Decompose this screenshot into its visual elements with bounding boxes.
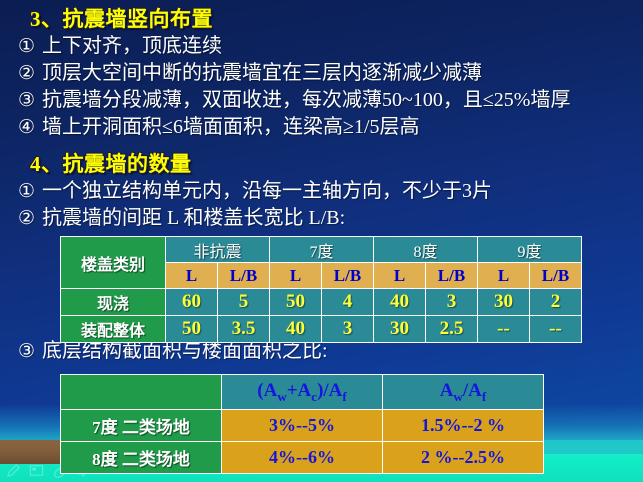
area-ratio-table: (Aw+Ac)/Af Aw/Af 7度 二类场地 3%--5% 1.5%--2 … — [60, 374, 544, 474]
table-row: 8度 二类场地 4%--6% 2 %--2.5% — [61, 442, 544, 474]
table1-cell-1-6: -- — [478, 316, 530, 343]
table1-sub-header-5: L/B — [426, 263, 478, 289]
bullet-text: 抗震墙的间距 L 和楼盖长宽比 L/B: — [42, 207, 345, 229]
table1-cell-1-1: 3.5 — [218, 316, 270, 343]
table1-cell-0-4: 40 — [374, 289, 426, 316]
bullet-text: 底层结构截面积与楼面面积之比: — [42, 340, 328, 362]
section-4-heading: 4、抗震墙的数量 — [30, 151, 643, 177]
formula-sub-w: w — [454, 388, 463, 403]
formula-sub-f: f — [482, 388, 486, 403]
table2-cell-0-0: 3%--5% — [222, 410, 383, 442]
table2-header-aw-over-af: Aw/Af — [383, 375, 544, 410]
table1-sub-header-1: L/B — [218, 263, 270, 289]
bullet-text: 上下对齐，顶底连续 — [42, 35, 222, 57]
formula-sub-w: w — [277, 388, 286, 403]
section-4-item-2: ②抗震墙的间距 L 和楼盖长宽比 L/B: — [18, 205, 643, 232]
table1-sub-header-0: L — [166, 263, 218, 289]
table1-row-0-label: 现浇 — [61, 289, 166, 316]
section-3-item-3: ③抗震墙分段减薄，双面收进，每次减薄50~100，且≤25%墙厚 — [18, 87, 643, 114]
table-row: 现浇 60 5 50 4 40 3 30 2 — [61, 289, 582, 316]
bullet-marker: ② — [18, 205, 42, 232]
formula-sub-f: f — [342, 388, 346, 403]
formula-mid: /A — [463, 380, 482, 401]
section-4-item-1: ①一个独立结构单元内，沿每一主轴方向，不少于3片 — [18, 178, 643, 205]
table1-cell-0-1: 5 — [218, 289, 270, 316]
table1-group-header-3: 9度 — [478, 237, 582, 263]
section-3-item-2: ②顶层大空间中断的抗震墙宜在三层内逐渐减少减薄 — [18, 60, 643, 87]
presentation-slide: 3、抗震墙竖向布置 ①上下对齐，顶底连续 ②顶层大空间中断的抗震墙宜在三层内逐渐… — [0, 0, 643, 482]
table-row: 7度 二类场地 3%--5% 1.5%--2 % — [61, 410, 544, 442]
bullet-marker: ① — [18, 178, 42, 205]
bullet-marker: ② — [18, 60, 42, 87]
table1-sub-header-7: L/B — [530, 263, 582, 289]
table2-corner-label — [61, 375, 222, 410]
table1-group-header-0: 非抗震 — [166, 237, 270, 263]
table1-row-1-label: 装配整体 — [61, 316, 166, 343]
table1-corner-label: 楼盖类别 — [61, 237, 166, 289]
table2-cell-1-0: 4%--6% — [222, 442, 383, 474]
table1-sub-header-4: L — [374, 263, 426, 289]
floor-slab-spacing-table-wrapper: 楼盖类别 非抗震 7度 8度 9度 L L/B L L/B L L/B L L/… — [60, 236, 582, 343]
bullet-text: 墙上开洞面积≤6墙面面积，连梁高≥1/5层高 — [42, 116, 420, 138]
formula-mid: +A — [287, 380, 312, 401]
floor-slab-spacing-table: 楼盖类别 非抗震 7度 8度 9度 L L/B L L/B L L/B L L/… — [60, 236, 582, 343]
table1-cell-0-5: 3 — [426, 289, 478, 316]
table1-cell-0-3: 4 — [322, 289, 374, 316]
area-ratio-table-wrapper: (Aw+Ac)/Af Aw/Af 7度 二类场地 3%--5% 1.5%--2 … — [60, 374, 544, 474]
table2-cell-0-1: 1.5%--2 % — [383, 410, 544, 442]
table1-group-header-2: 8度 — [374, 237, 478, 263]
table1-cell-0-0: 60 — [166, 289, 218, 316]
pen-icon[interactable] — [6, 463, 21, 478]
table2-row-0-label: 7度 二类场地 — [61, 410, 222, 442]
bullet-marker: ① — [18, 33, 42, 60]
table1-cell-1-5: 2.5 — [426, 316, 478, 343]
bullet-marker: ③ — [18, 338, 42, 365]
table1-cell-1-4: 30 — [374, 316, 426, 343]
table1-sub-header-6: L — [478, 263, 530, 289]
table1-sub-header-2: L — [270, 263, 322, 289]
table1-cell-0-2: 50 — [270, 289, 322, 316]
table1-cell-1-3: 3 — [322, 316, 374, 343]
table-row: 装配整体 50 3.5 40 3 30 2.5 -- -- — [61, 316, 582, 343]
formula-post: )/A — [317, 380, 342, 401]
section-3-heading: 3、抗震墙竖向布置 — [30, 6, 643, 32]
table2-header-aw-plus-ac-over-af: (Aw+Ac)/Af — [222, 375, 383, 410]
table-row-headers: (Aw+Ac)/Af Aw/Af — [61, 375, 544, 410]
slide-thumbnail-icon[interactable] — [29, 463, 44, 478]
table1-cell-1-0: 50 — [166, 316, 218, 343]
bullet-text: 抗震墙分段减薄，双面收进，每次减薄50~100，且≤25%墙厚 — [42, 89, 570, 111]
section-3-item-1: ①上下对齐，顶底连续 — [18, 33, 643, 60]
formula-pre: A — [440, 380, 454, 401]
table1-cell-1-2: 40 — [270, 316, 322, 343]
formula-pre: (A — [257, 380, 277, 401]
table1-cell-0-7: 2 — [530, 289, 582, 316]
table1-sub-header-3: L/B — [322, 263, 374, 289]
section-3-item-4: ④墙上开洞面积≤6墙面面积，连梁高≥1/5层高 — [18, 114, 643, 141]
bullet-text: 一个独立结构单元内，沿每一主轴方向，不少于3片 — [42, 180, 492, 202]
bullet-text: 顶层大空间中断的抗震墙宜在三层内逐渐减少减薄 — [42, 62, 482, 84]
table-row-group-headers: 楼盖类别 非抗震 7度 8度 9度 — [61, 237, 582, 263]
table1-cell-0-6: 30 — [478, 289, 530, 316]
table2-cell-1-1: 2 %--2.5% — [383, 442, 544, 474]
table1-group-header-1: 7度 — [270, 237, 374, 263]
table2-row-1-label: 8度 二类场地 — [61, 442, 222, 474]
bullet-marker: ③ — [18, 87, 42, 114]
bullet-marker: ④ — [18, 114, 42, 141]
table1-cell-1-7: -- — [530, 316, 582, 343]
